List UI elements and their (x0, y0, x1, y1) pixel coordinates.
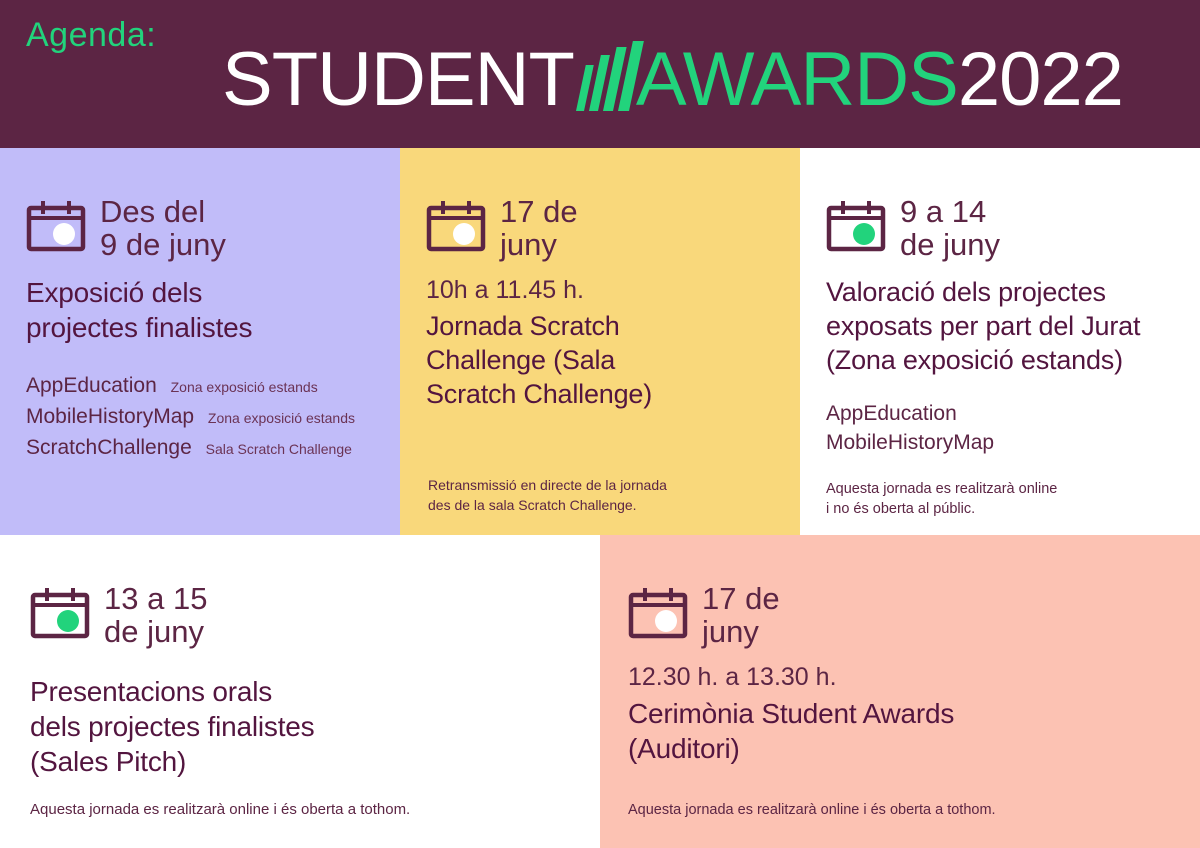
date-header: 17 de juny (426, 193, 772, 261)
date-line-2: de juny (104, 615, 207, 648)
calendar-icon (426, 199, 486, 255)
cards-row-top: Des del 9 de juny Exposició dels project… (0, 148, 1200, 535)
date-line-1: 13 a 15 (104, 582, 207, 615)
list-item: ScratchChallenge Sala Scratch Challenge (26, 433, 372, 464)
date-text: Des del 9 de juny (100, 193, 226, 261)
card-cerimonia: 17 de juny 12.30 h. a 13.30 h. Cerimònia… (600, 535, 1200, 848)
project-venue: Sala Scratch Challenge (206, 441, 352, 457)
calendar-icon (826, 199, 886, 255)
date-line-2: juny (500, 228, 578, 261)
note-line-2: i no és oberta al públic. (826, 499, 1172, 519)
headline-line-2: dels projectes finalistes (30, 709, 572, 744)
card-note: Aquesta jornada es realitzarà online i é… (628, 800, 996, 820)
card-valoracio: 9 a 14 de juny Valoració dels projectes … (800, 148, 1200, 535)
card-headline: Exposició dels projectes finalistes (26, 275, 372, 345)
date-line-1: 17 de (702, 582, 780, 615)
project-name: ScratchChallenge (26, 436, 192, 459)
logo-text-year: 2022 (958, 41, 1123, 119)
headline-line-1: Jornada Scratch (426, 309, 772, 343)
headline-line-1: Presentacions orals (30, 674, 572, 709)
project-name: AppEducation (26, 374, 157, 397)
card-headline: Cerimònia Student Awards (Auditori) (628, 696, 1172, 766)
card-headline: Jornada Scratch Challenge (Sala Scratch … (426, 309, 772, 411)
list-item: MobileHistoryMap Zona exposició estands (26, 402, 372, 433)
calendar-icon (30, 586, 90, 642)
date-header: Des del 9 de juny (26, 193, 372, 261)
headline-line-3: (Zona exposició estands) (826, 343, 1172, 377)
card-note: Aquesta jornada es realitzarà online i é… (30, 800, 410, 820)
card-note: Aquesta jornada es realitzarà online i n… (826, 479, 1172, 519)
date-header: 17 de juny (628, 580, 1172, 648)
list-item: AppEducation (826, 399, 1172, 428)
card-presentacions: 13 a 15 de juny Presentacions orals dels… (0, 535, 600, 848)
headline-line-3: Scratch Challenge) (426, 377, 772, 411)
note-line-1: Aquesta jornada es realitzarà online i é… (628, 800, 996, 820)
note-line-1: Retransmissió en directe de la jornada (428, 475, 667, 495)
note-line-1: Aquesta jornada es realitzarà online i é… (30, 800, 410, 820)
date-text: 17 de juny (500, 193, 578, 261)
date-text: 17 de juny (702, 580, 780, 648)
logo-text-awards: AWARDS (636, 41, 958, 119)
calendar-icon (26, 199, 86, 255)
poster-header: Agenda: STUDENT AWARDS 2022 (0, 0, 1200, 148)
date-line-2: de juny (900, 228, 1000, 261)
headline-line-2: (Auditori) (628, 731, 1172, 766)
card-headline: Presentacions orals dels projectes final… (30, 674, 572, 779)
headline-line-1: Valoració dels projectes (826, 275, 1172, 309)
card-headline: Valoració dels projectes exposats per pa… (826, 275, 1172, 377)
headline-line-2: projectes finalistes (26, 310, 372, 345)
calendar-icon (628, 586, 688, 642)
slashes-icon (574, 41, 636, 119)
date-header: 9 a 14 de juny (826, 193, 1172, 261)
logo-text-student: STUDENT (222, 41, 574, 119)
agenda-poster: Agenda: STUDENT AWARDS 2022 (0, 0, 1200, 848)
cards-row-bottom: 13 a 15 de juny Presentacions orals dels… (0, 535, 1200, 848)
project-name: MobileHistoryMap (26, 405, 194, 428)
date-header: 13 a 15 de juny (30, 580, 572, 648)
headline-line-2: exposats per part del Jurat (826, 309, 1172, 343)
date-line-2: 9 de juny (100, 228, 226, 261)
date-text: 13 a 15 de juny (104, 580, 207, 648)
headline-line-3: (Sales Pitch) (30, 744, 572, 779)
list-item: MobileHistoryMap (826, 428, 1172, 457)
date-line-2: juny (702, 615, 780, 648)
headline-line-1: Cerimònia Student Awards (628, 696, 1172, 731)
project-venue: Zona exposició estands (171, 379, 318, 395)
list-item: AppEducation Zona exposició estands (26, 371, 372, 402)
date-line-1: 17 de (500, 195, 578, 228)
project-list: AppEducation MobileHistoryMap (826, 399, 1172, 457)
student-awards-logo: STUDENT AWARDS 2022 (222, 40, 1123, 120)
card-exposicio: Des del 9 de juny Exposició dels project… (0, 148, 400, 535)
card-time: 12.30 h. a 13.30 h. (628, 662, 1172, 692)
note-line-1: Aquesta jornada es realitzarà online (826, 479, 1172, 499)
card-note: Retransmissió en directe de la jornada d… (428, 475, 667, 515)
agenda-label: Agenda: (26, 18, 156, 52)
date-line-1: Des del (100, 195, 226, 228)
note-line-2: des de la sala Scratch Challenge. (428, 495, 667, 515)
card-jornada-scratch: 17 de juny 10h a 11.45 h. Jornada Scratc… (400, 148, 800, 535)
date-line-1: 9 a 14 (900, 195, 1000, 228)
date-text: 9 a 14 de juny (900, 193, 1000, 261)
project-list: AppEducation Zona exposició estands Mobi… (26, 371, 372, 464)
headline-line-1: Exposició dels (26, 275, 372, 310)
card-time: 10h a 11.45 h. (426, 275, 772, 305)
headline-line-2: Challenge (Sala (426, 343, 772, 377)
project-venue: Zona exposició estands (208, 410, 355, 426)
